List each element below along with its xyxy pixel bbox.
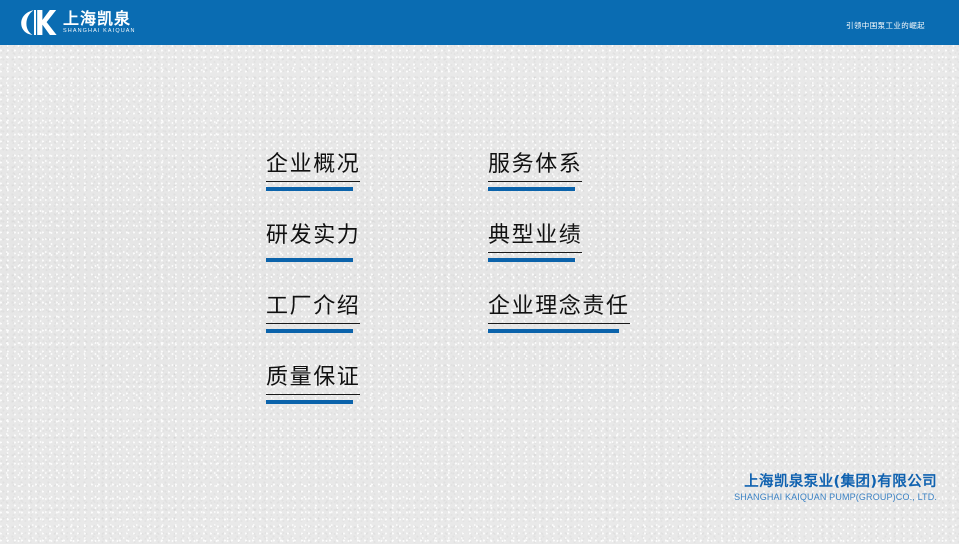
menu-item[interactable]: 服务体系 (488, 150, 818, 191)
menu-item-accent-bar (488, 329, 619, 333)
footer-company-name-cn: 上海凯泉泵业(集团)有限公司 (734, 474, 937, 491)
logo-name-cn: 上海凯泉 (63, 10, 136, 27)
header-bar: 上海凯泉 SHANGHAI KAIQUAN 引领中国泵工业的崛起 (0, 0, 959, 45)
menu-item[interactable]: 质量保证 (266, 363, 644, 404)
footer-company-name-en: SHANGHAI KAIQUAN PUMP(GROUP)CO., LTD. (734, 491, 937, 503)
menu-column-right: 服务体系典型业绩企业理念责任 (488, 150, 818, 363)
menu-item-accent-bar (488, 258, 575, 262)
menu-item-label: 典型业绩 (488, 221, 582, 253)
menu-item[interactable]: 典型业绩 (488, 221, 818, 262)
logo-name-en: SHANGHAI KAIQUAN (63, 27, 136, 35)
menu-item-accent-bar (266, 187, 353, 191)
slide-root: 上海凯泉 SHANGHAI KAIQUAN 引领中国泵工业的崛起 企业概况研发实… (0, 0, 959, 544)
menu-item-label: 企业理念责任 (488, 292, 630, 324)
menu-item-accent-bar (266, 329, 353, 333)
menu-item-label: 质量保证 (266, 363, 360, 395)
menu-item-label: 企业概况 (266, 150, 360, 182)
menu-item[interactable]: 企业理念责任 (488, 292, 818, 333)
menu-item-accent-bar (266, 400, 353, 404)
header-tagline: 引领中国泵工业的崛起 (846, 21, 925, 31)
menu-item-label: 工厂介绍 (266, 292, 360, 324)
menu-item-label: 研发实力 (266, 221, 360, 253)
menu-item-accent-bar (266, 258, 353, 262)
menu-item-accent-bar (488, 187, 575, 191)
menu-item-label: 服务体系 (488, 150, 582, 182)
logo-wordmark: 上海凯泉 SHANGHAI KAIQUAN (63, 7, 136, 38)
footer-company: 上海凯泉泵业(集团)有限公司 SHANGHAI KAIQUAN PUMP(GRO… (734, 474, 937, 503)
kaiquan-k-monogram-icon (18, 7, 60, 38)
company-logo[interactable]: 上海凯泉 SHANGHAI KAIQUAN (18, 7, 136, 38)
